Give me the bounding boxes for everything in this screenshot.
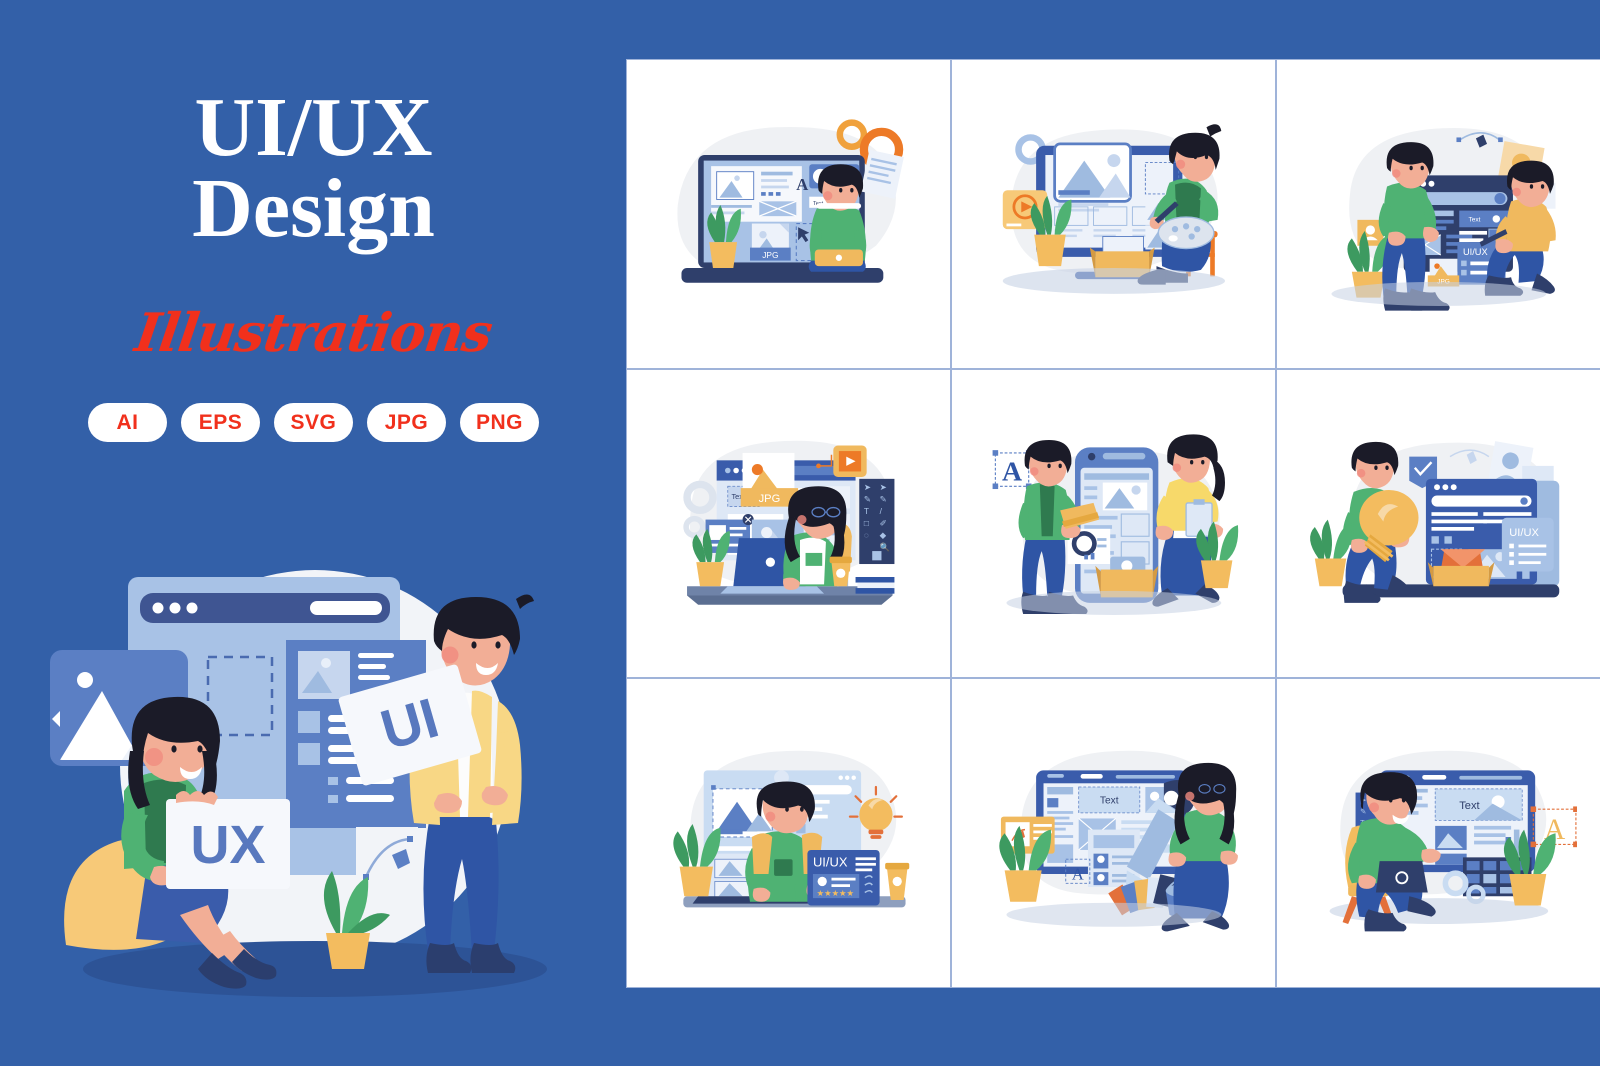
title-line-1: UI/UX [0, 88, 627, 169]
svg-text:□: □ [863, 518, 868, 528]
grid-cell-2[interactable] [952, 60, 1275, 368]
grid-cell-7[interactable]: UI/UX ★★★★★ [627, 679, 950, 987]
cell7-card-tag: UI/UX [813, 854, 848, 869]
format-badge-eps[interactable]: EPS [181, 403, 260, 442]
svg-text:🔍: 🔍 [879, 541, 889, 552]
format-badge-svg[interactable]: SVG [274, 403, 353, 442]
cell1-file-tag: JPG [762, 249, 778, 259]
grid-cell-9[interactable]: Text A ➤➤ ✎✎ T/ □✐ ◌◆ [1277, 679, 1600, 987]
svg-text:➤: ➤ [863, 482, 870, 492]
format-badge-jpg[interactable]: JPG [367, 403, 446, 442]
svg-text:◆: ◆ [879, 530, 886, 540]
cell3-text-tag: Text [1468, 216, 1480, 223]
hero-illustration: UX [30, 545, 600, 1015]
svg-text:◌: ◌ [863, 530, 868, 540]
grid-cell-8[interactable]: Text A [952, 679, 1275, 987]
hero-sign-ux-label: UX [190, 815, 265, 875]
svg-text:✎: ✎ [863, 494, 870, 504]
cell1-type-tag: A [796, 175, 808, 194]
svg-text:A: A [1071, 864, 1083, 883]
cell3-card-tag: UI/UX [1463, 247, 1488, 257]
svg-text:✎: ✎ [879, 494, 886, 504]
format-badge-list: AI EPS SVG JPG PNG [0, 403, 627, 442]
cell6-card-tag: UI/UX [1509, 527, 1539, 539]
svg-text:✎: ✎ [1360, 807, 1366, 816]
svg-text:T: T [863, 506, 868, 516]
grid-cell-1[interactable]: A Text JPG [627, 60, 950, 368]
cell9-text-tag: Text [1459, 800, 1479, 812]
format-badge-ai[interactable]: AI [88, 403, 167, 442]
svg-text:➤: ➤ [879, 482, 886, 492]
page-title: UI/UX Design [0, 88, 627, 249]
cell8-text-tag: Text [1100, 796, 1119, 807]
subtitle-illustrations: Illustrations [0, 302, 631, 364]
grid-cell-6[interactable]: UI/UX [1277, 370, 1600, 678]
format-badge-png[interactable]: PNG [460, 403, 539, 442]
cell4-file-tag: JPG [758, 493, 780, 505]
cell7-rating-stars: ★★★★★ [816, 888, 853, 898]
left-panel: UI/UX Design Illustrations AI EPS SVG JP… [0, 0, 627, 1066]
grid-cell-5[interactable]: A [952, 370, 1275, 678]
cell5-type-tag: A [1002, 457, 1022, 488]
grid-cell-3[interactable]: Text UI/UX JPG [1277, 60, 1600, 368]
grid-cell-4[interactable]: Text JPG [627, 370, 950, 678]
svg-text:✐: ✐ [879, 518, 886, 528]
illustration-grid: A Text JPG [627, 60, 1600, 987]
title-line-2: Design [0, 169, 627, 250]
